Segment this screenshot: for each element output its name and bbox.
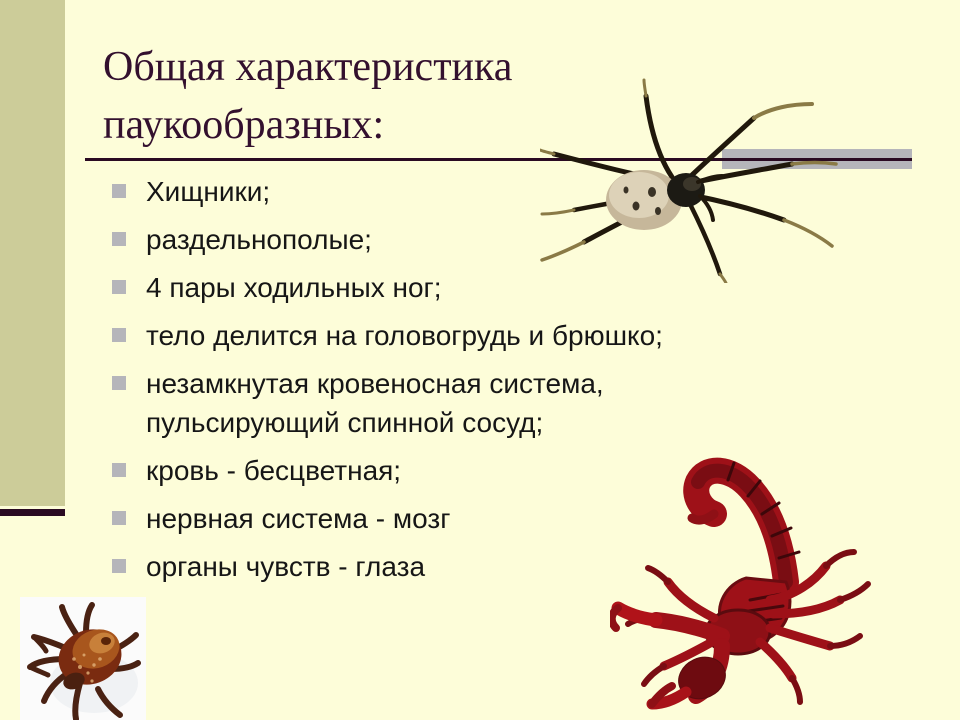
bullet-item: тело делится на головогрудь и брюшко; (110, 316, 900, 355)
bullet-item: 4 пары ходильных ног; (110, 268, 900, 307)
bullet-square-icon (112, 376, 126, 390)
left-accent-rule (0, 509, 65, 516)
bullet-item: раздельнополые; (110, 220, 900, 259)
tick-photo-frame (20, 597, 146, 720)
bullet-list: Хищники;раздельнополые;4 пары ходильных … (110, 172, 900, 595)
bullet-item: органы чувств - глаза (110, 547, 900, 586)
bullet-square-icon (112, 328, 126, 342)
bullet-square-icon (112, 184, 126, 198)
bullet-item-label: кровь - бесцветная; (146, 455, 401, 486)
bullet-item-label: тело делится на головогрудь и брюшко; (146, 320, 663, 351)
bullet-item-label: органы чувств - глаза (146, 551, 425, 582)
bullet-square-icon (112, 559, 126, 573)
bullet-item-label: 4 пары ходильных ног; (146, 272, 442, 303)
bullet-item: незамкнутая кровеносная система, пульсир… (110, 364, 900, 442)
bullet-square-icon (112, 463, 126, 477)
presentation-slide: Общая характеристика паукообразных: (0, 0, 960, 720)
bullet-item-label: Хищники; (146, 176, 270, 207)
bullet-item-label: раздельнополые; (146, 224, 372, 255)
bullet-square-icon (112, 280, 126, 294)
bullet-item-label: нервная система - мозг (146, 503, 450, 534)
bullet-item-label: незамкнутая кровеносная система, пульсир… (146, 368, 604, 438)
bullet-square-icon (112, 232, 126, 246)
bullet-item: кровь - бесцветная; (110, 451, 900, 490)
tick-photo (20, 597, 146, 720)
left-accent-band (0, 0, 65, 506)
bullet-square-icon (112, 511, 126, 525)
bullet-item: нервная система - мозг (110, 499, 900, 538)
bullet-item: Хищники; (110, 172, 900, 211)
